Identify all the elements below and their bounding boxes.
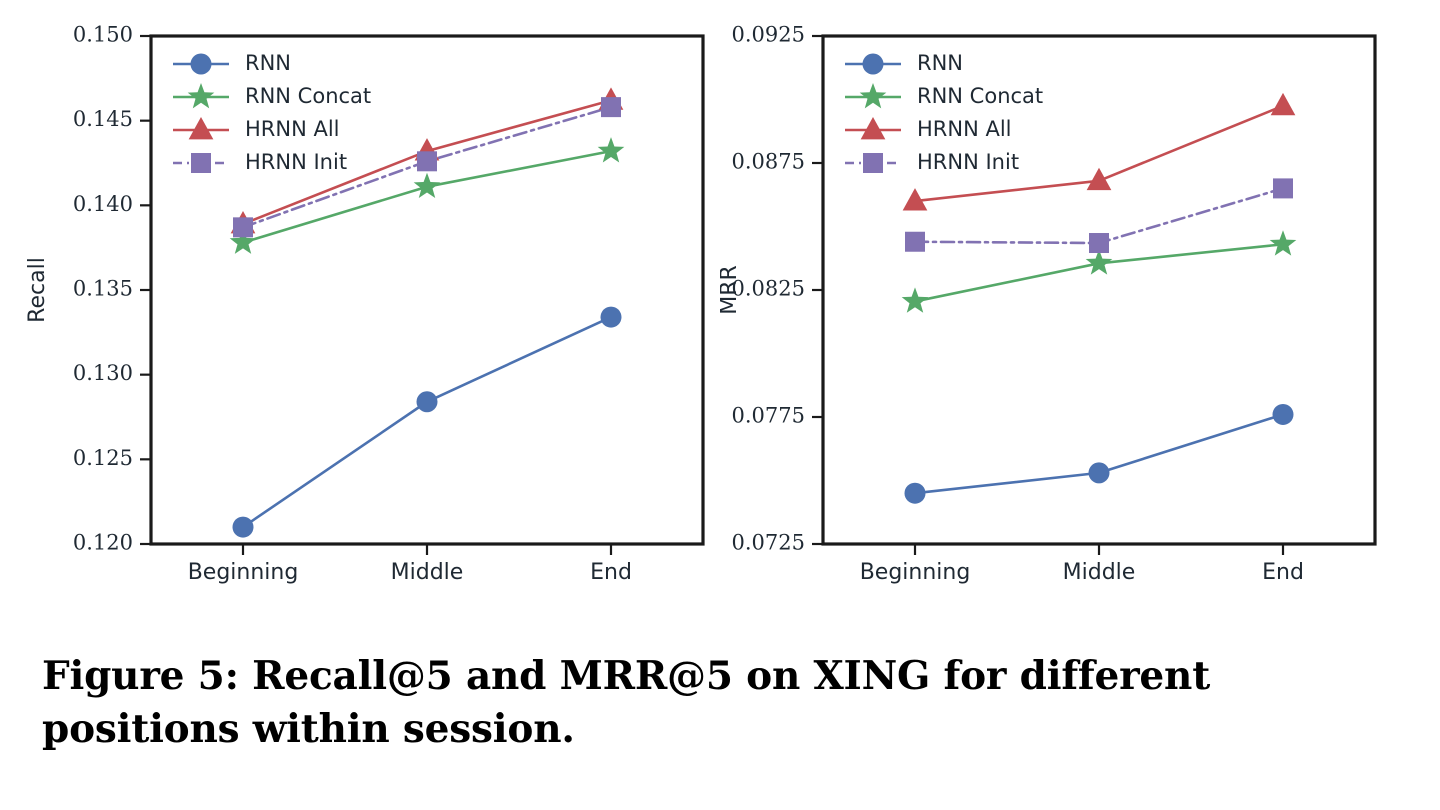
figure-panels: 0.1200.1250.1300.1350.1400.1450.150Begin… xyxy=(0,0,1440,600)
figure-caption: Figure 5: Recall@5 and MRR@5 on XING for… xyxy=(42,650,1372,755)
data-point-rnn xyxy=(1273,404,1294,425)
x-tick-label: Middle xyxy=(391,560,464,585)
legend-marker-square-icon xyxy=(863,153,883,173)
data-point-rnn xyxy=(233,517,254,538)
data-point-hrnn-init xyxy=(233,217,253,237)
legend-label: HRNN All xyxy=(917,117,1012,141)
y-tick-label: 0.0775 xyxy=(732,404,805,428)
x-tick-label: Beginning xyxy=(860,560,971,585)
y-axis-title: MRR xyxy=(720,265,742,315)
data-point-hrnn-init xyxy=(1089,233,1109,253)
y-tick-label: 0.0875 xyxy=(732,150,805,174)
data-point-hrnn-init xyxy=(601,97,621,117)
data-point-rnn xyxy=(601,307,622,328)
y-tick-label: 0.150 xyxy=(73,23,133,47)
legend-label: RNN Concat xyxy=(245,84,371,108)
y-tick-label: 0.145 xyxy=(73,107,133,131)
x-tick-label: End xyxy=(590,560,632,585)
legend-marker-square-icon xyxy=(191,153,211,173)
data-point-rnn xyxy=(417,391,438,412)
legend-label: HRNN All xyxy=(245,117,340,141)
y-tick-label: 0.120 xyxy=(73,531,133,555)
y-tick-label: 0.125 xyxy=(73,446,133,470)
data-point-rnn xyxy=(905,483,926,504)
legend-marker-circle-icon xyxy=(191,54,212,75)
legend-marker-circle-icon xyxy=(863,54,884,75)
y-axis-title: Recall xyxy=(25,257,50,323)
x-tick-label: End xyxy=(1262,560,1304,585)
mrr-chart-svg: 0.07250.07750.08250.08750.0925BeginningM… xyxy=(720,0,1440,600)
legend-label: RNN xyxy=(245,51,291,75)
y-tick-label: 0.130 xyxy=(73,361,133,385)
data-point-hrnn-init xyxy=(1273,178,1293,198)
mrr-chart-panel: 0.07250.07750.08250.08750.0925BeginningM… xyxy=(720,0,1440,600)
figure-root: 0.1200.1250.1300.1350.1400.1450.150Begin… xyxy=(0,0,1440,810)
y-tick-label: 0.0925 xyxy=(732,23,805,47)
y-tick-label: 0.0725 xyxy=(732,531,805,555)
legend-label: HRNN Init xyxy=(917,150,1019,174)
legend-label: RNN xyxy=(917,51,963,75)
data-point-hrnn-init xyxy=(417,151,437,171)
recall-chart-svg: 0.1200.1250.1300.1350.1400.1450.150Begin… xyxy=(0,0,720,600)
y-tick-label: 0.140 xyxy=(73,192,133,216)
y-tick-label: 0.135 xyxy=(73,277,133,301)
legend-label: HRNN Init xyxy=(245,150,347,174)
x-tick-label: Middle xyxy=(1063,560,1136,585)
legend-label: RNN Concat xyxy=(917,84,1043,108)
recall-chart-panel: 0.1200.1250.1300.1350.1400.1450.150Begin… xyxy=(0,0,720,600)
data-point-hrnn-init xyxy=(905,232,925,252)
x-tick-label: Beginning xyxy=(188,560,299,585)
data-point-rnn xyxy=(1089,462,1110,483)
y-tick-label: 0.0825 xyxy=(732,277,805,301)
